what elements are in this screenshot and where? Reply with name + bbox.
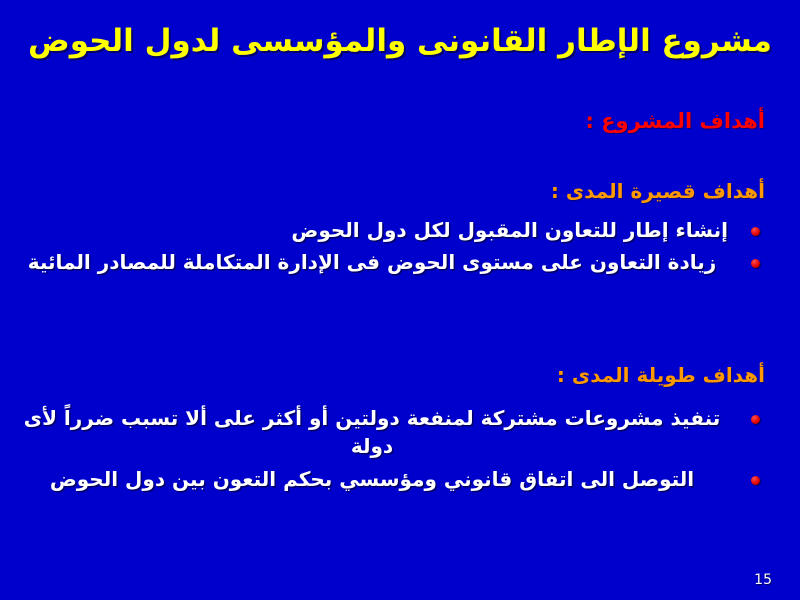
long-term-bullet-list: تنفيذ مشروعات مشتركة لمنفعة دولتين أو أك… — [16, 404, 772, 497]
short-term-heading: أهداف قصيرة المدى : — [25, 178, 765, 204]
objectives-heading-text: أهداف المشروع : — [586, 109, 766, 133]
slide-title: مشروع الإطار القانونى والمؤسسى لدول الحو… — [0, 22, 800, 61]
list-item-text: زيادة التعاون على مستوى الحوض فى الإدارة… — [16, 248, 728, 276]
short-term-heading-text: أهداف قصيرة المدى : — [551, 179, 765, 203]
list-item: التوصل الى اتفاق قانوني ومؤسسي بحكم التع… — [16, 465, 772, 493]
short-term-bullet-list: إنشاء إطار للتعاون المقبول لكل دول الحوض… — [16, 216, 772, 281]
bullet-dot-icon — [751, 227, 760, 236]
bullet-dot-icon — [751, 476, 760, 485]
objectives-heading: أهداف المشروع : — [25, 108, 765, 135]
list-item-text: تنفيذ مشروعات مشتركة لمنفعة دولتين أو أك… — [16, 404, 728, 461]
bullet-dot-icon — [751, 259, 760, 268]
slide-title-text: مشروع الإطار القانونى والمؤسسى لدول الحو… — [0, 22, 800, 61]
long-term-heading-text: أهداف طويلة المدى : — [557, 363, 765, 387]
list-item-text: التوصل الى اتفاق قانوني ومؤسسي بحكم التع… — [16, 465, 728, 493]
slide-number: 15 — [754, 572, 772, 588]
list-item: تنفيذ مشروعات مشتركة لمنفعة دولتين أو أك… — [16, 404, 772, 461]
bullet-dot-icon — [751, 415, 760, 424]
long-term-heading: أهداف طويلة المدى : — [25, 362, 765, 388]
list-item-text: إنشاء إطار للتعاون المقبول لكل دول الحوض — [16, 216, 728, 244]
list-item: زيادة التعاون على مستوى الحوض فى الإدارة… — [16, 248, 772, 276]
slide-canvas: مشروع الإطار القانونى والمؤسسى لدول الحو… — [0, 0, 800, 600]
list-item: إنشاء إطار للتعاون المقبول لكل دول الحوض — [16, 216, 772, 244]
